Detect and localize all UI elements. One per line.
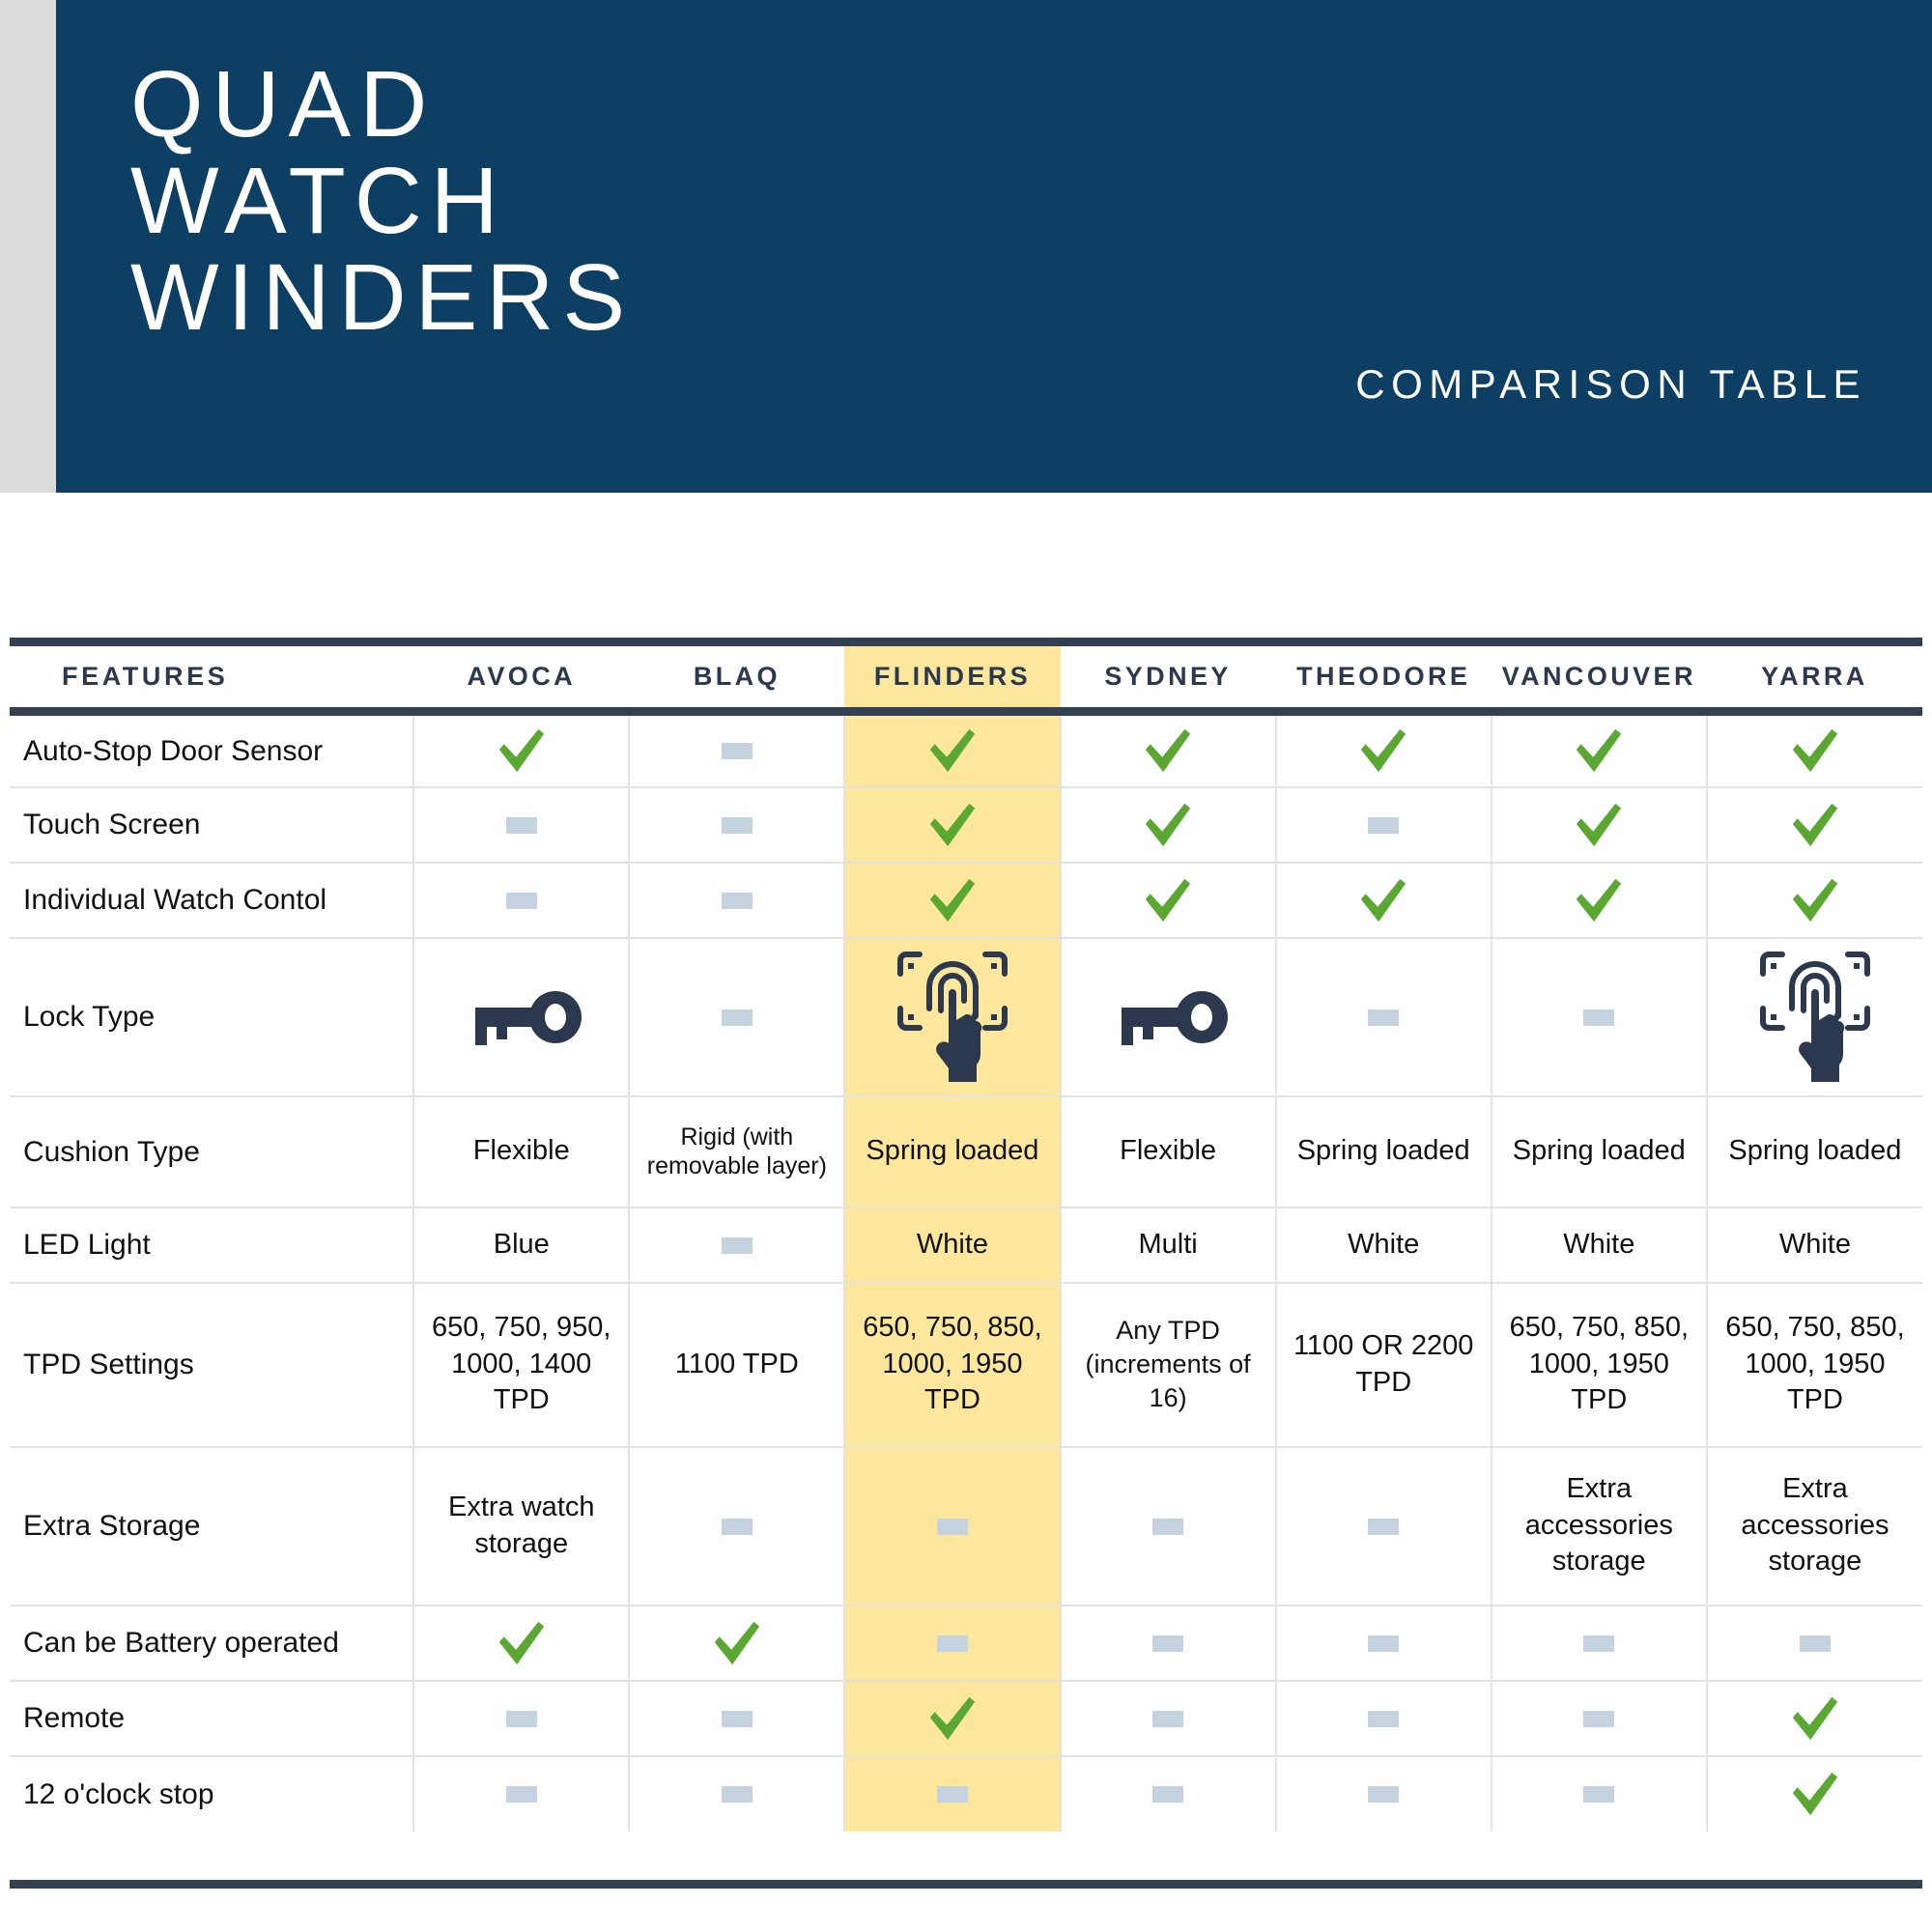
cell-value-avoca: Flexible [413, 1096, 629, 1207]
cell-check-sydney [1061, 712, 1276, 787]
cell-dash-sydney [1061, 1756, 1276, 1832]
table-row: Cushion TypeFlexibleRigid (with removabl… [10, 1096, 1922, 1207]
cell-text: Rigid (with removable layer) [640, 1122, 834, 1181]
column-header-features: FEATURES [10, 642, 413, 712]
cell-text: Flexible [425, 1133, 618, 1170]
table-header: FEATURESAVOCABLAQFLINDERSSYDNEYTHEODOREV… [10, 642, 1922, 712]
cell-dash-theodore [1276, 1756, 1492, 1832]
feature-label: LED Light [10, 1207, 413, 1283]
table-row: Individual Watch Contol [10, 863, 1922, 938]
cell-dash-theodore [1276, 787, 1492, 863]
check-icon [496, 1617, 548, 1669]
cell-dash-theodore [1276, 1681, 1492, 1756]
cell-check-yarra [1707, 1756, 1922, 1832]
not-available-dash-icon [1368, 1786, 1399, 1803]
table-row: Remote [10, 1681, 1922, 1756]
feature-label: Can be Battery operated [10, 1605, 413, 1681]
table-body: Auto-Stop Door SensorTouch ScreenIndivid… [10, 712, 1922, 1832]
cell-text: Spring loaded [1287, 1133, 1480, 1170]
column-header-vancouver: VANCOUVER [1492, 642, 1707, 712]
cell-key-avoca [413, 938, 629, 1096]
cell-check-theodore [1276, 712, 1492, 787]
cell-check-yarra [1707, 863, 1922, 938]
table-bottom-rule [10, 1880, 1922, 1889]
feature-label: Lock Type [10, 938, 413, 1096]
cell-dash-theodore [1276, 938, 1492, 1096]
not-available-dash-icon [722, 1711, 753, 1727]
check-icon [1142, 724, 1194, 777]
not-available-dash-icon [722, 1519, 753, 1535]
not-available-dash-icon [722, 743, 753, 759]
cell-check-yarra [1707, 712, 1922, 787]
comparison-table: FEATURESAVOCABLAQFLINDERSSYDNEYTHEODOREV… [10, 638, 1922, 1832]
cell-check-vancouver [1492, 787, 1707, 863]
column-header-yarra: YARRA [1707, 642, 1922, 712]
table-header-row: FEATURESAVOCABLAQFLINDERSSYDNEYTHEODOREV… [10, 642, 1922, 712]
cell-text: Any TPD (increments of 16) [1071, 1314, 1264, 1415]
cell-fingerprint-flinders [844, 938, 1060, 1096]
cell-dash-theodore [1276, 1447, 1492, 1605]
cell-dash-blaq [629, 1681, 844, 1756]
check-icon [1573, 874, 1625, 926]
not-available-dash-icon [1152, 1519, 1183, 1535]
feature-label: Auto-Stop Door Sensor [10, 712, 413, 787]
table-row: Touch Screen [10, 787, 1922, 863]
cell-check-vancouver [1492, 712, 1707, 787]
cell-check-vancouver [1492, 863, 1707, 938]
cell-value-sydney: Flexible [1061, 1096, 1276, 1207]
not-available-dash-icon [1583, 1711, 1614, 1727]
check-icon [926, 724, 979, 777]
not-available-dash-icon [1368, 1635, 1399, 1652]
cell-value-yarra: White [1707, 1207, 1922, 1283]
cell-dash-blaq [629, 1447, 844, 1605]
feature-label: Cushion Type [10, 1096, 413, 1207]
not-available-dash-icon [722, 893, 753, 909]
check-icon [1789, 799, 1841, 851]
feature-label: Extra Storage [10, 1447, 413, 1605]
cell-value-theodore: 1100 OR 2200 TPD [1276, 1283, 1492, 1447]
cell-dash-vancouver [1492, 1605, 1707, 1681]
page-title: QUAD WATCH WINDERS [130, 56, 634, 346]
cell-value-avoca: Extra watch storage [413, 1447, 629, 1605]
cell-text: Spring loaded [856, 1133, 1049, 1170]
not-available-dash-icon [1583, 1635, 1614, 1652]
feature-label: Remote [10, 1681, 413, 1756]
cell-value-blaq: Rigid (with removable layer) [629, 1096, 844, 1207]
key-icon [1106, 989, 1230, 1045]
not-available-dash-icon [1368, 1009, 1399, 1026]
cell-dash-sydney [1061, 1605, 1276, 1681]
not-available-dash-icon [1152, 1786, 1183, 1803]
cell-value-sydney: Any TPD (increments of 16) [1061, 1283, 1276, 1447]
cell-check-avoca [413, 1605, 629, 1681]
cell-text: Spring loaded [1719, 1133, 1912, 1170]
column-header-sydney: SYDNEY [1061, 642, 1276, 712]
check-icon [1573, 799, 1625, 851]
fingerprint-scan-icon [895, 949, 1010, 1086]
cell-dash-avoca [413, 787, 629, 863]
not-available-dash-icon [1152, 1635, 1183, 1652]
cell-text: Flexible [1071, 1133, 1264, 1170]
cell-text: White [1287, 1227, 1481, 1264]
not-available-dash-icon [937, 1519, 968, 1535]
check-icon [926, 1692, 979, 1745]
cell-dash-blaq [629, 712, 844, 787]
not-available-dash-icon [722, 1237, 753, 1254]
cell-check-avoca [413, 712, 629, 787]
check-icon [926, 874, 979, 926]
banner-left-strip [0, 0, 56, 493]
fingerprint-scan-icon [1757, 949, 1873, 1086]
table-row: 12 o'clock stop [10, 1756, 1922, 1832]
cell-dash-vancouver [1492, 1681, 1707, 1756]
table-row: Extra StorageExtra watch storageExtra ac… [10, 1447, 1922, 1605]
banner-subtitle: COMPARISON TABLE [1355, 361, 1866, 408]
cell-check-flinders [844, 787, 1060, 863]
table-row: LED LightBlueWhiteMultiWhiteWhiteWhite [10, 1207, 1922, 1283]
not-available-dash-icon [937, 1635, 968, 1652]
not-available-dash-icon [506, 1786, 537, 1803]
cell-dash-avoca [413, 1756, 629, 1832]
not-available-dash-icon [722, 817, 753, 834]
check-icon [1573, 724, 1625, 777]
check-icon [1357, 724, 1409, 777]
not-available-dash-icon [506, 1711, 537, 1727]
cell-check-flinders [844, 1681, 1060, 1756]
table-row: Can be Battery operated [10, 1605, 1922, 1681]
cell-value-yarra: 650, 750, 850, 1000, 1950 TPD [1707, 1283, 1922, 1447]
cell-value-flinders: 650, 750, 850, 1000, 1950 TPD [844, 1283, 1060, 1447]
cell-text: Multi [1071, 1227, 1265, 1264]
cell-text: Blue [424, 1227, 618, 1264]
check-icon [1142, 799, 1194, 851]
check-icon [926, 799, 979, 851]
cell-text: 650, 750, 850, 1000, 1950 TPD [1502, 1310, 1695, 1419]
not-available-dash-icon [1583, 1786, 1614, 1803]
table-row: TPD Settings650, 750, 950, 1000, 1400 TP… [10, 1283, 1922, 1447]
cell-dash-avoca [413, 1681, 629, 1756]
cell-dash-flinders [844, 1605, 1060, 1681]
cell-check-sydney [1061, 787, 1276, 863]
cell-key-sydney [1061, 938, 1276, 1096]
cell-check-yarra [1707, 1681, 1922, 1756]
cell-value-yarra: Spring loaded [1707, 1096, 1922, 1207]
cell-check-blaq [629, 1605, 844, 1681]
cell-dash-sydney [1061, 1447, 1276, 1605]
table-row: Auto-Stop Door Sensor [10, 712, 1922, 787]
check-icon [1357, 874, 1409, 926]
comparison-table-wrapper: FEATURESAVOCABLAQFLINDERSSYDNEYTHEODOREV… [10, 638, 1922, 1832]
cell-text: White [1718, 1227, 1913, 1264]
column-header-flinders: FLINDERS [844, 642, 1060, 712]
key-icon [460, 989, 583, 1045]
not-available-dash-icon [1800, 1635, 1831, 1652]
cell-value-avoca: Blue [413, 1207, 629, 1283]
cell-dash-theodore [1276, 1605, 1492, 1681]
cell-dash-blaq [629, 1756, 844, 1832]
not-available-dash-icon [722, 1786, 753, 1803]
cell-dash-avoca [413, 863, 629, 938]
cell-value-vancouver: 650, 750, 850, 1000, 1950 TPD [1492, 1283, 1707, 1447]
cell-dash-vancouver [1492, 1756, 1707, 1832]
cell-check-flinders [844, 863, 1060, 938]
check-icon [1789, 874, 1841, 926]
cell-dash-sydney [1061, 1681, 1276, 1756]
cell-text: 1100 OR 2200 TPD [1287, 1328, 1480, 1401]
cell-value-avoca: 650, 750, 950, 1000, 1400 TPD [413, 1283, 629, 1447]
table-row: Lock Type [10, 938, 1922, 1096]
not-available-dash-icon [506, 893, 537, 909]
check-icon [1142, 874, 1194, 926]
cell-check-sydney [1061, 863, 1276, 938]
cell-value-sydney: Multi [1061, 1207, 1276, 1283]
feature-label: Touch Screen [10, 787, 413, 863]
cell-value-vancouver: Extra accessories storage [1492, 1447, 1707, 1605]
cell-text: Spring loaded [1502, 1133, 1695, 1170]
cell-text: 650, 750, 950, 1000, 1400 TPD [425, 1310, 618, 1419]
cell-check-yarra [1707, 787, 1922, 863]
cell-value-flinders: Spring loaded [844, 1096, 1060, 1207]
column-header-theodore: THEODORE [1276, 642, 1492, 712]
check-icon [711, 1617, 763, 1669]
cell-dash-yarra [1707, 1605, 1922, 1681]
page-header-banner: QUAD WATCH WINDERS COMPARISON TABLE [0, 0, 1932, 493]
cell-value-theodore: White [1276, 1207, 1492, 1283]
cell-dash-blaq [629, 1207, 844, 1283]
check-icon [496, 724, 548, 777]
cell-text: Extra watch storage [425, 1490, 618, 1562]
cell-dash-vancouver [1492, 938, 1707, 1096]
cell-check-flinders [844, 712, 1060, 787]
cell-text: Extra accessories storage [1719, 1471, 1912, 1580]
column-header-avoca: AVOCA [413, 642, 629, 712]
check-icon [1789, 1768, 1841, 1820]
cell-fingerprint-yarra [1707, 938, 1922, 1096]
cell-check-theodore [1276, 863, 1492, 938]
column-header-blaq: BLAQ [629, 642, 844, 712]
cell-text: Extra accessories storage [1502, 1471, 1695, 1580]
not-available-dash-icon [506, 817, 537, 834]
cell-text: White [855, 1227, 1049, 1264]
cell-dash-blaq [629, 787, 844, 863]
not-available-dash-icon [1368, 1711, 1399, 1727]
cell-value-vancouver: Spring loaded [1492, 1096, 1707, 1207]
cell-dash-blaq [629, 938, 844, 1096]
check-icon [1789, 1692, 1841, 1745]
not-available-dash-icon [1368, 817, 1399, 834]
not-available-dash-icon [722, 1009, 753, 1026]
cell-value-blaq: 1100 TPD [629, 1283, 844, 1447]
cell-dash-flinders [844, 1447, 1060, 1605]
check-icon [1789, 724, 1841, 777]
cell-value-theodore: Spring loaded [1276, 1096, 1492, 1207]
cell-text: White [1502, 1227, 1696, 1264]
cell-dash-flinders [844, 1756, 1060, 1832]
feature-label: Individual Watch Contol [10, 863, 413, 938]
cell-text: 1100 TPD [640, 1347, 834, 1383]
cell-value-flinders: White [844, 1207, 1060, 1283]
cell-value-yarra: Extra accessories storage [1707, 1447, 1922, 1605]
not-available-dash-icon [1583, 1009, 1614, 1026]
cell-text: 650, 750, 850, 1000, 1950 TPD [1719, 1310, 1912, 1419]
feature-label: TPD Settings [10, 1283, 413, 1447]
not-available-dash-icon [1368, 1519, 1399, 1535]
cell-text: 650, 750, 850, 1000, 1950 TPD [856, 1310, 1049, 1419]
feature-label: 12 o'clock stop [10, 1756, 413, 1832]
cell-value-vancouver: White [1492, 1207, 1707, 1283]
cell-dash-blaq [629, 863, 844, 938]
not-available-dash-icon [1152, 1711, 1183, 1727]
not-available-dash-icon [937, 1786, 968, 1803]
